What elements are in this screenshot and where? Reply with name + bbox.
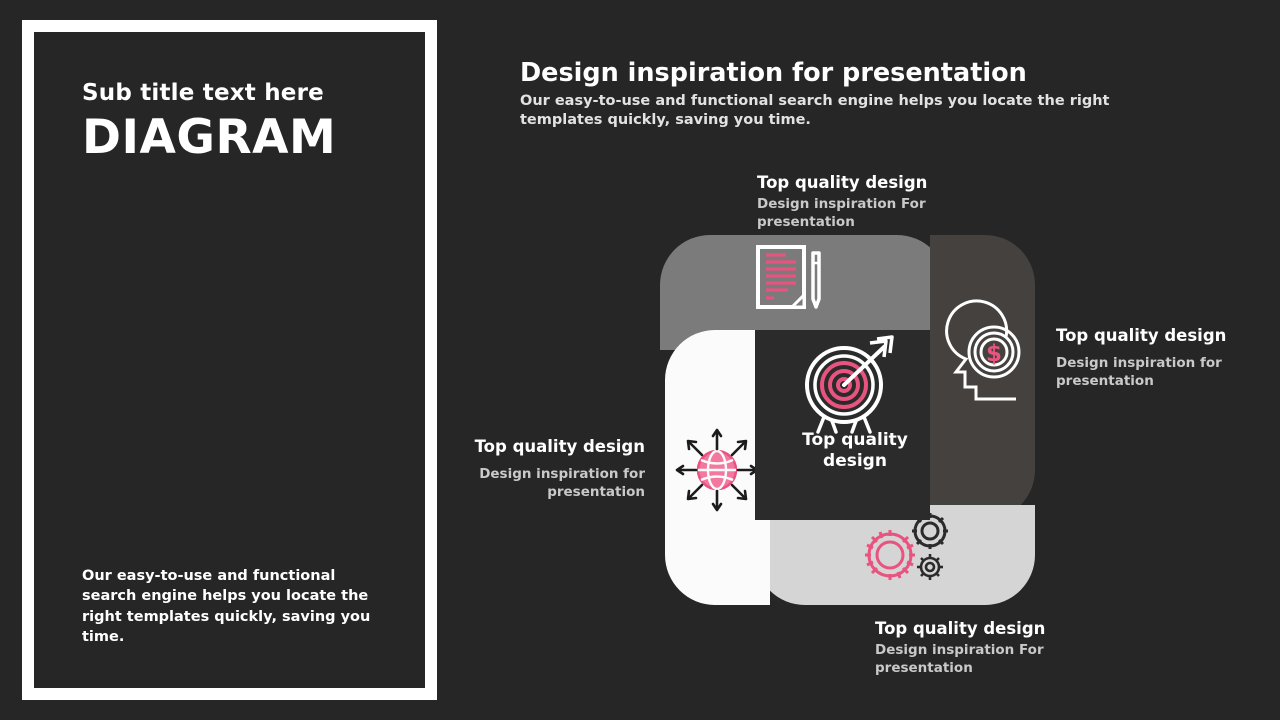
callout-left-title: Top quality design (455, 436, 645, 457)
left-panel-paragraph: Our easy-to-use and functional search en… (82, 566, 392, 648)
globe-arrows-icon (677, 430, 757, 510)
callout-top[interactable]: Top quality design Design inspiration Fo… (757, 172, 997, 232)
callout-bottom[interactable]: Top quality design Design inspiration Fo… (875, 618, 1125, 678)
page-title: DIAGRAM (82, 112, 336, 164)
callout-right[interactable]: Top quality design Design inspiration fo… (1056, 325, 1246, 391)
callout-left[interactable]: Top quality design Design inspiration fo… (455, 436, 645, 502)
left-panel-inner: Sub title text here DIAGRAM Our easy-to-… (34, 32, 425, 688)
callout-left-description: Design inspiration for presentation (455, 466, 645, 502)
callout-top-description: Design inspiration For presentation (757, 196, 997, 232)
callout-bottom-description: Design inspiration For presentation (875, 642, 1125, 678)
left-panel-frame: Sub title text here DIAGRAM Our easy-to-… (22, 20, 437, 700)
svg-text:$: $ (986, 341, 1002, 367)
callout-right-title: Top quality design (1056, 325, 1246, 346)
sub-title: Sub title text here (82, 80, 324, 106)
segment-left[interactable] (665, 330, 770, 605)
header-title: Design inspiration for presentation (520, 58, 1027, 88)
segment-right[interactable]: $ (930, 235, 1035, 520)
segment-center[interactable] (755, 330, 930, 520)
callout-right-description: Design inspiration for presentation (1056, 355, 1246, 391)
pinwheel-diagram: $ (640, 215, 1060, 625)
center-label: Top quality design (785, 430, 925, 473)
callout-top-title: Top quality design (757, 172, 997, 193)
callout-bottom-title: Top quality design (875, 618, 1125, 639)
header-subtitle: Our easy-to-use and functional search en… (520, 92, 1170, 131)
slide-canvas: Sub title text here DIAGRAM Our easy-to-… (0, 0, 1280, 720)
